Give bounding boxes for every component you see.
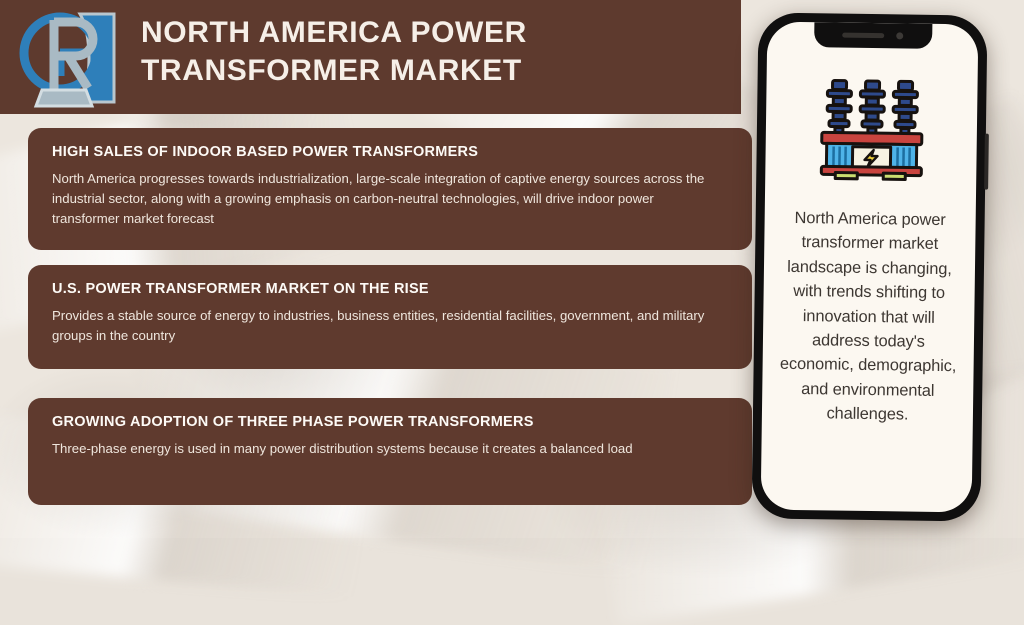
front-camera-icon [896, 32, 903, 39]
phone-notch [814, 22, 932, 49]
speaker-grille-icon [842, 33, 884, 39]
info-card[interactable]: HIGH SALES OF INDOOR BASED POWER TRANSFO… [28, 128, 752, 250]
power-transformer-icon [815, 70, 929, 182]
phone-side-button[interactable] [984, 134, 989, 190]
title-line-1: NORTH AMERICA POWER [141, 14, 701, 52]
card-body: North America progresses towards industr… [52, 169, 720, 229]
phone-caption-text: North America power transformer market l… [774, 206, 964, 428]
phone-screen: North America power transformer market l… [761, 22, 979, 513]
title-line-2: TRANSFORMER MARKET [141, 52, 701, 90]
header-banner: NORTH AMERICA POWER TRANSFORMER MARKET [0, 0, 741, 114]
card-heading: GROWING ADOPTION OF THREE PHASE POWER TR… [52, 414, 728, 430]
card-body: Provides a stable source of energy to in… [52, 306, 720, 346]
card-body: Three-phase energy is used in many power… [52, 439, 720, 459]
info-card[interactable]: U.S. POWER TRANSFORMER MARKET ON THE RIS… [28, 265, 752, 369]
info-card[interactable]: GROWING ADOPTION OF THREE PHASE POWER TR… [28, 398, 752, 505]
card-heading: HIGH SALES OF INDOOR BASED POWER TRANSFO… [52, 144, 728, 160]
phone-mockup: North America power transformer market l… [751, 12, 987, 521]
gr-monogram-logo [14, 6, 126, 110]
page-title: NORTH AMERICA POWER TRANSFORMER MARKET [141, 14, 701, 90]
card-heading: U.S. POWER TRANSFORMER MARKET ON THE RIS… [52, 281, 728, 297]
